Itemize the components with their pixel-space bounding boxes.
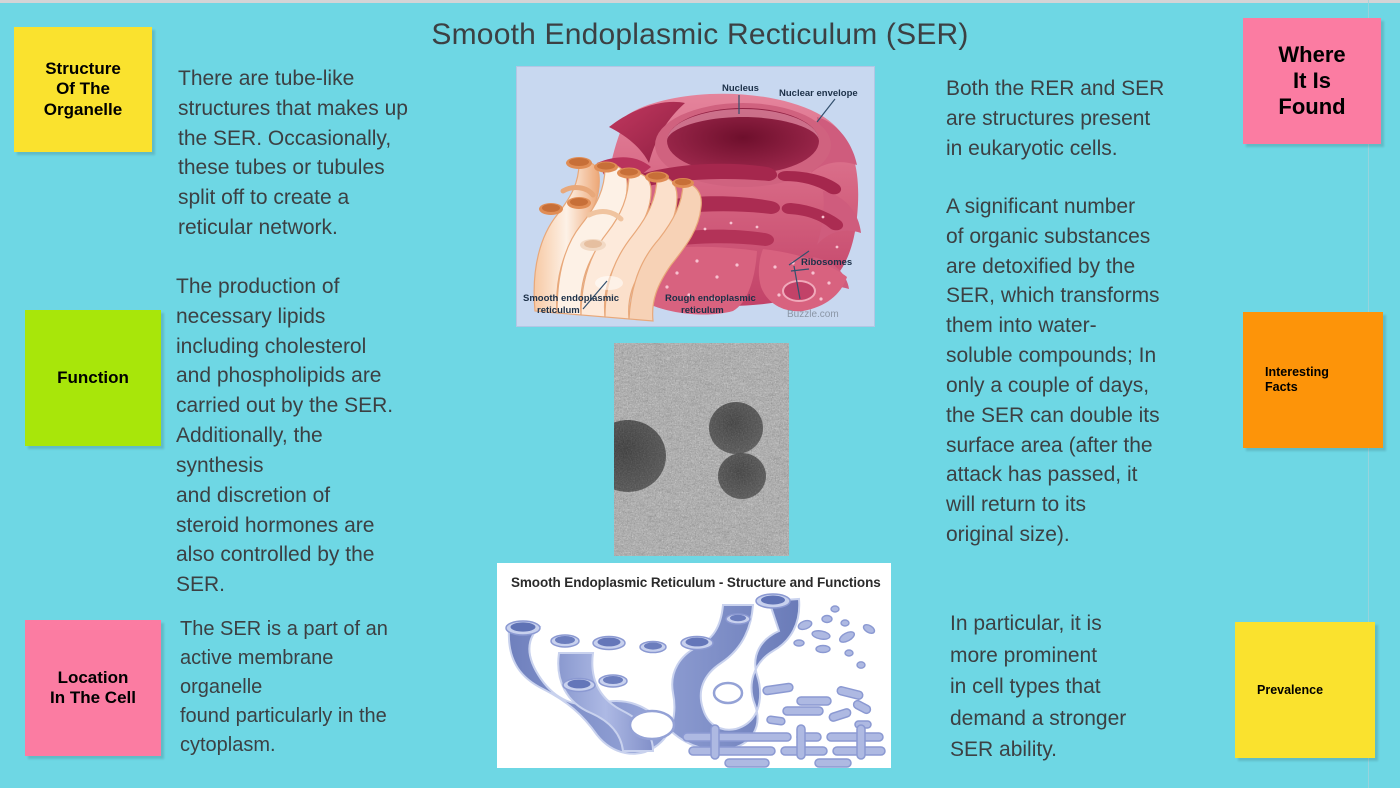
label-where-it-is-found[interactable]: Where It Is Found	[1243, 18, 1381, 144]
label-text: Interesting Facts	[1265, 365, 1329, 395]
label-text: Where It Is Found	[1243, 42, 1381, 120]
top-edge-strip	[0, 0, 1400, 3]
paragraph-interesting-facts: A significant number of organic substanc…	[946, 192, 1238, 550]
label-text: Function	[25, 368, 161, 388]
ser-structure-functions-illustration: Smooth Endoplasmic Reticulum - Structure…	[497, 563, 891, 768]
paragraph-where-it-is-found: Both the RER and SER are structures pres…	[946, 74, 1246, 163]
page-title: Smooth Endoplasmic Recticulum (SER)	[330, 18, 1070, 52]
label-location-in-the-cell[interactable]: Location In The Cell	[25, 620, 161, 756]
label-structure-of-the-organelle[interactable]: Structure Of The Organelle	[14, 27, 152, 152]
svg-text:Buzzle.com: Buzzle.com	[787, 309, 839, 320]
svg-text:reticulum: reticulum	[681, 305, 724, 316]
paragraph-location: The SER is a part of an active membrane …	[180, 615, 480, 760]
svg-text:Rough endoplasmic: Rough endoplasmic	[665, 293, 756, 304]
svg-text:Smooth endoplasmic: Smooth endoplasmic	[523, 293, 619, 304]
paragraph-prevalence: In particular, it is more prominent in c…	[950, 608, 1240, 766]
label-text: Structure Of The Organelle	[14, 59, 152, 119]
svg-text:Nuclear envelope: Nuclear envelope	[779, 88, 858, 99]
label-function[interactable]: Function	[25, 310, 161, 446]
svg-text:Nucleus: Nucleus	[722, 83, 759, 94]
label-interesting-facts[interactable]: Interesting Facts	[1243, 312, 1383, 448]
label-text: Location In The Cell	[25, 668, 161, 708]
svg-text:Ribosomes: Ribosomes	[801, 257, 852, 268]
electron-micrograph	[614, 343, 789, 556]
paragraph-function: The production of necessary lipids inclu…	[176, 272, 466, 600]
label-text: Prevalence	[1257, 683, 1323, 698]
label-prevalence[interactable]: Prevalence	[1235, 622, 1375, 758]
paragraph-structure: There are tube-like structures that make…	[178, 64, 478, 243]
figure-title: Smooth Endoplasmic Reticulum - Structure…	[511, 575, 881, 590]
svg-text:reticulum: reticulum	[537, 305, 580, 316]
endoplasmic-reticulum-diagram: Nucleus Nuclear envelope Ribosomes Smoot…	[516, 66, 875, 327]
